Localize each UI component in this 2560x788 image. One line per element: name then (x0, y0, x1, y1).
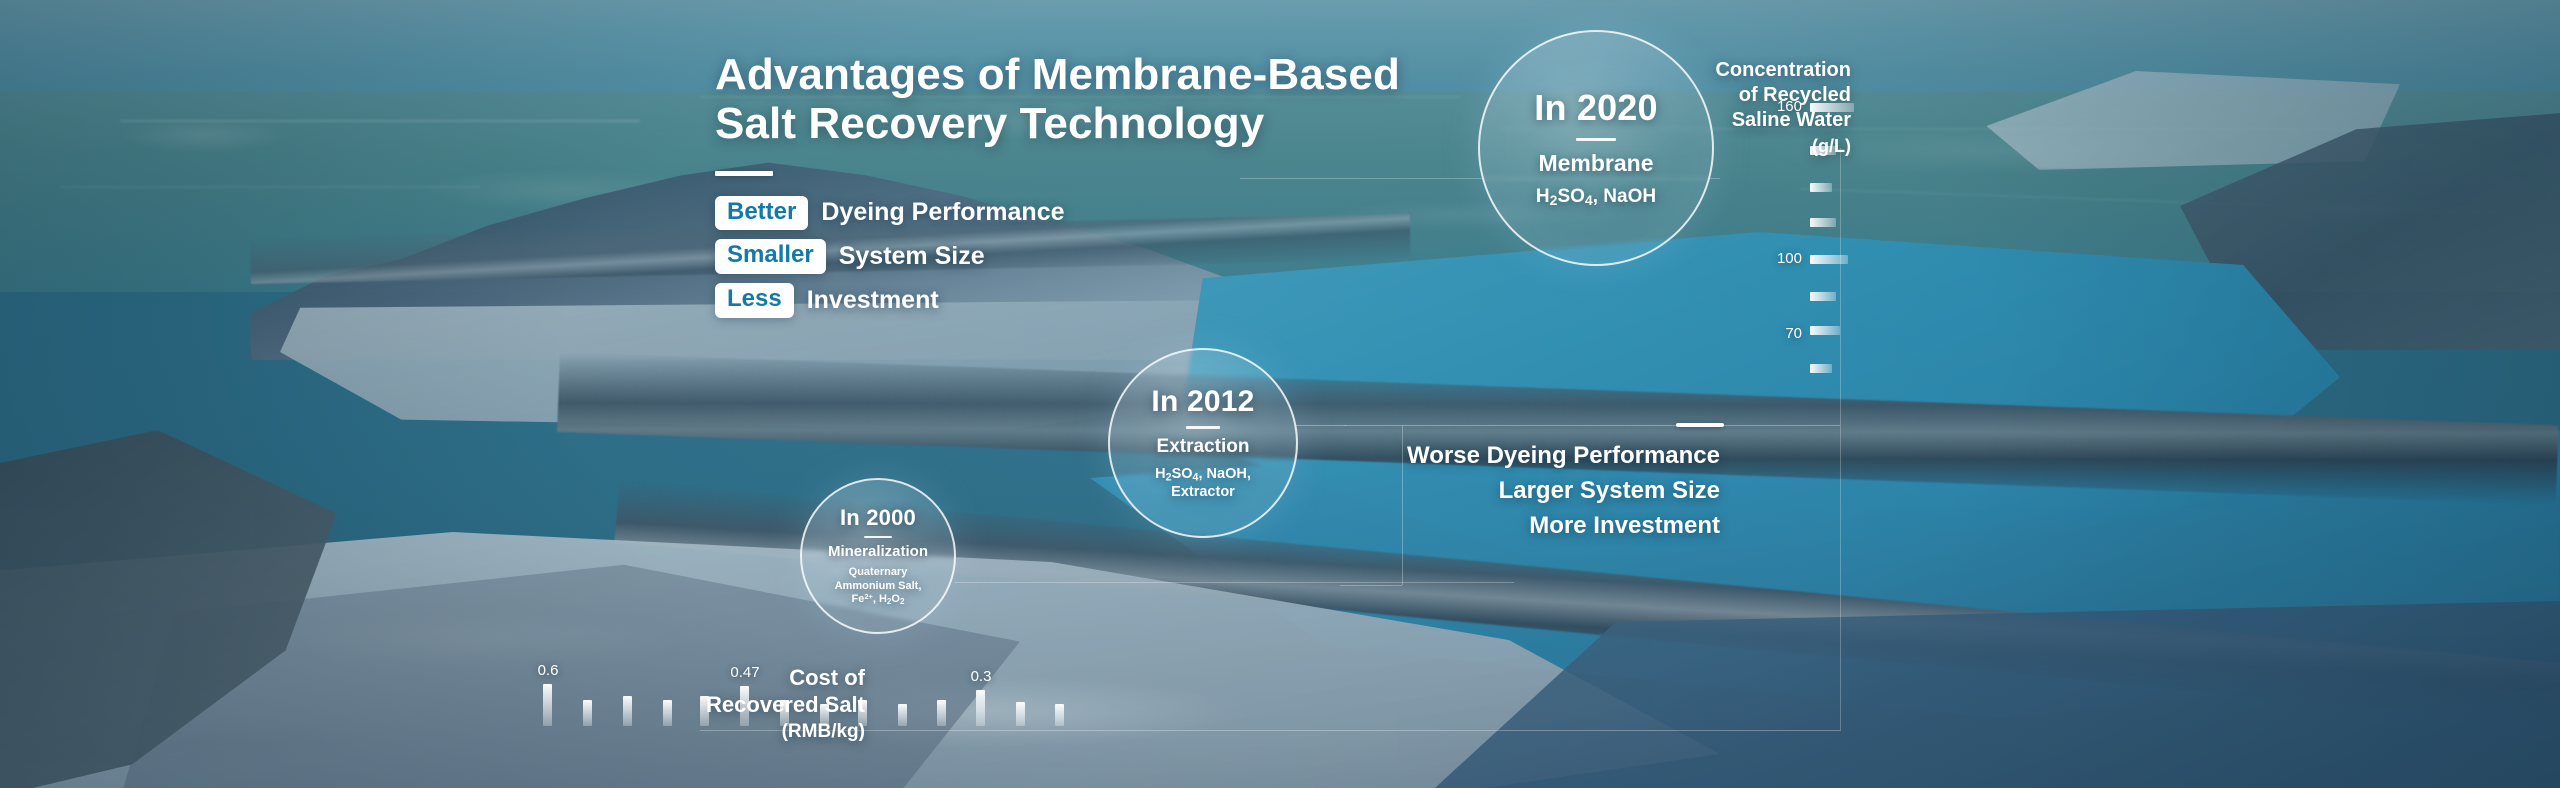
advantage-badge-less: Less (715, 283, 794, 318)
connector-marker-100 (1676, 423, 1724, 427)
drawback-investment: More Investment (1230, 508, 1720, 543)
concentration-tick-label-100: 100 (1748, 250, 1802, 267)
cost-tick-minor (700, 696, 709, 726)
drawbacks-list: Worse Dyeing Performance Larger System S… (1230, 438, 1720, 543)
cost-tick-label-0-47: 0.47 (719, 664, 771, 681)
timeline-node-2012-year: In 2012 (1151, 385, 1254, 419)
page-title-line-2: Salt Recovery Technology (715, 99, 1415, 148)
timeline-node-2000-chemicals: QuaternaryAmmonium Salt,Fe2+, H2O2 (835, 566, 922, 606)
concentration-tick-minor (1810, 183, 1832, 192)
concentration-axis-title-line-1: Concentration (1715, 59, 1851, 81)
cost-tick-minor (937, 700, 946, 726)
cost-tick-minor (623, 696, 632, 726)
concentration-tick-minor (1810, 146, 1836, 155)
advantage-item: Less Investment (715, 283, 939, 318)
drawback-dyeing-performance: Worse Dyeing Performance (1230, 438, 1720, 473)
advantage-label-dyeing-performance: Dyeing Performance (821, 198, 1064, 227)
cost-tick-minor (898, 704, 907, 726)
concentration-tick-major (1810, 103, 1854, 112)
cost-tick-minor (1055, 704, 1064, 726)
infographic-stage: Advantages of Membrane-Based Salt Recove… (0, 0, 2560, 788)
concentration-tick-major (1810, 255, 1848, 264)
chart-frame-right-edge (1840, 148, 1841, 730)
timeline-node-2020-year: In 2020 (1534, 87, 1657, 129)
connector-2000-to-axis (954, 582, 1514, 583)
connector-2012-to-axis (1296, 425, 1346, 426)
cost-tick-major (543, 684, 552, 726)
cost-axis-title-line-1: Cost of (789, 665, 865, 690)
advantage-item: Smaller System Size (715, 239, 985, 274)
cost-tick-label-0-3: 0.3 (955, 668, 1007, 685)
timeline-node-2000-year: In 2000 (840, 505, 916, 531)
timeline-node-2012-divider (1186, 426, 1220, 429)
cost-tick-minor (583, 700, 592, 726)
advantage-item: Better Dyeing Performance (715, 196, 1065, 231)
cost-tick-label-0-6: 0.6 (522, 662, 574, 679)
drawback-system-size: Larger System Size (1230, 473, 1720, 508)
page-title-line-1: Advantages of Membrane-Based (715, 50, 1415, 99)
concentration-tick-minor (1810, 218, 1836, 227)
concentration-tick-minor (1810, 292, 1836, 301)
cost-tick-minor (1016, 702, 1025, 726)
title-underline (715, 171, 773, 176)
title-block: Advantages of Membrane-Based Salt Recove… (715, 50, 1415, 318)
advantage-label-investment: Investment (807, 286, 939, 315)
timeline-node-2000-divider (864, 536, 892, 538)
timeline-node-2020-divider (1576, 138, 1616, 141)
advantages-list: Better Dyeing Performance Smaller System… (715, 196, 1415, 319)
timeline-node-2012-method: Extraction (1157, 436, 1250, 458)
concentration-tick-label-70: 70 (1748, 325, 1802, 342)
drawbacks-frame-bottom-stub (1340, 585, 1402, 586)
drawbacks-frame-top (1345, 425, 1840, 426)
timeline-node-2020-chemicals: H2SO4, NaOH (1536, 186, 1656, 209)
cost-tick-major (976, 690, 985, 726)
concentration-tick-minor (1810, 364, 1832, 373)
chart-frame-bottom-edge (700, 730, 1841, 731)
advantage-badge-smaller: Smaller (715, 239, 826, 274)
cost-tick-minor (663, 700, 672, 726)
advantage-badge-better: Better (715, 196, 808, 231)
cost-tick-minor (820, 704, 829, 726)
cost-tick-minor (780, 700, 789, 726)
concentration-tick-minor (1810, 326, 1840, 335)
cost-axis-unit: (RMB/kg) (640, 720, 865, 743)
graphics-overlay: Advantages of Membrane-Based Salt Recove… (0, 0, 2560, 788)
cost-tick-minor (858, 700, 867, 726)
timeline-node-2020[interactable]: In 2020 Membrane H2SO4, NaOH (1478, 30, 1714, 266)
timeline-node-2012-chemicals: H2SO4, NaOH,Extractor (1155, 466, 1251, 502)
page-title: Advantages of Membrane-Based Salt Recove… (715, 50, 1415, 149)
concentration-tick-label-160: 160 (1748, 98, 1802, 115)
cost-tick-major (740, 686, 749, 726)
timeline-node-2000-method: Mineralization (828, 543, 928, 560)
timeline-node-2020-method: Membrane (1538, 150, 1653, 177)
advantage-label-system-size: System Size (839, 242, 985, 271)
timeline-node-2012[interactable]: In 2012 Extraction H2SO4, NaOH,Extractor (1108, 348, 1298, 538)
timeline-node-2000[interactable]: In 2000 Mineralization QuaternaryAmmoniu… (800, 478, 956, 634)
